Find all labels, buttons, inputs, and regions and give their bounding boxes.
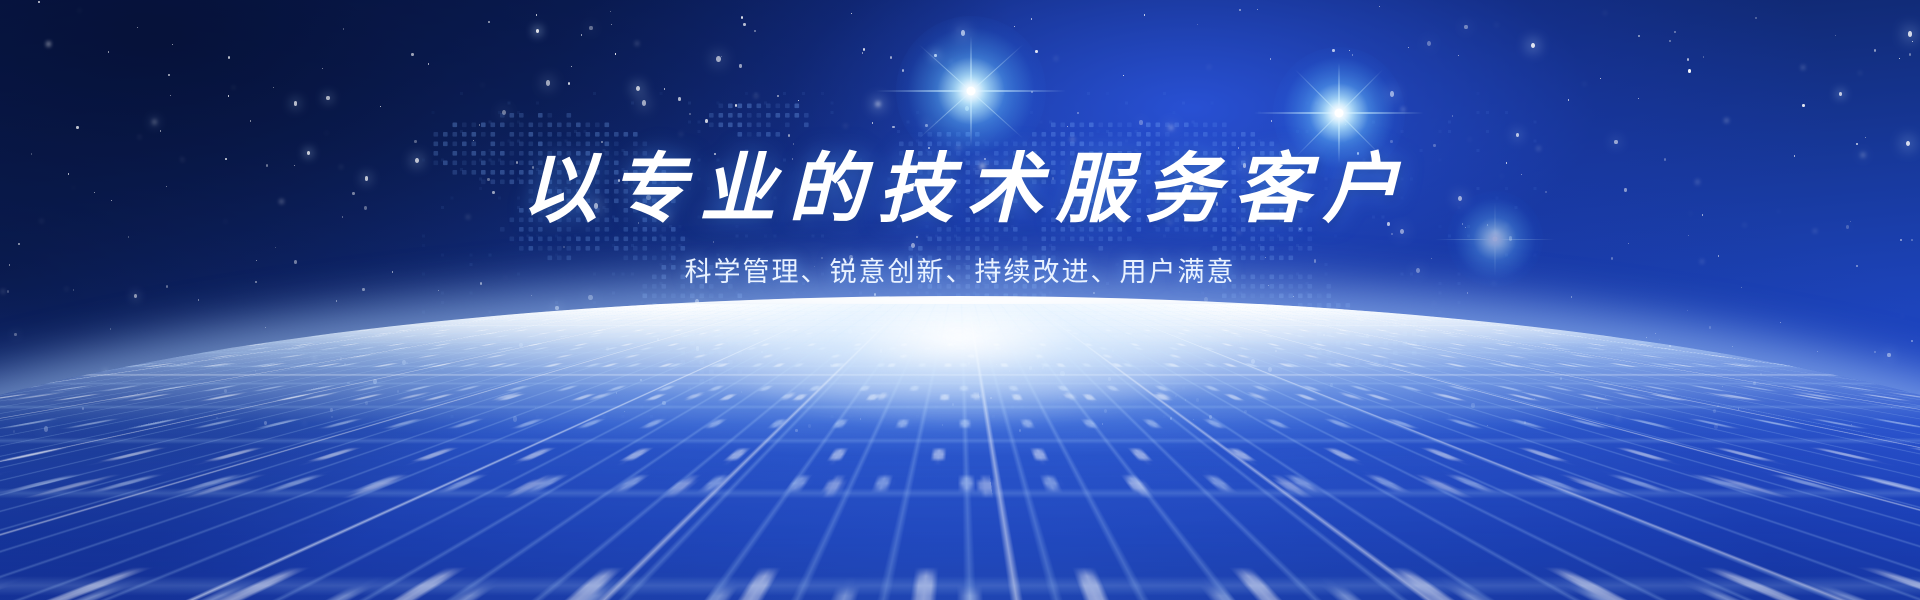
star-dot bbox=[793, 143, 794, 144]
star-dot bbox=[487, 178, 489, 181]
star-dot bbox=[851, 13, 852, 14]
star-dot bbox=[340, 166, 342, 168]
star-dot bbox=[646, 195, 651, 201]
star-dot bbox=[849, 255, 853, 260]
star-dot bbox=[1270, 58, 1271, 60]
star-dot bbox=[536, 29, 539, 33]
star-dot bbox=[1600, 78, 1601, 80]
star-dot bbox=[1674, 31, 1676, 34]
star-dot bbox=[532, 166, 535, 169]
star-dot bbox=[843, 187, 844, 188]
star-dot bbox=[721, 56, 722, 57]
star-dot bbox=[428, 63, 429, 64]
star-dot bbox=[1014, 26, 1015, 27]
star-dot bbox=[294, 260, 297, 264]
star-dot bbox=[1846, 225, 1849, 229]
star-dot bbox=[1899, 58, 1900, 60]
star-dot bbox=[294, 101, 298, 106]
star-dot bbox=[66, 288, 67, 290]
star-dot bbox=[1718, 255, 1720, 257]
star-dot bbox=[814, 266, 815, 267]
star-dot bbox=[516, 161, 518, 164]
star-dot bbox=[1487, 224, 1488, 225]
star-dot bbox=[1531, 43, 1535, 48]
star-dot bbox=[546, 80, 550, 85]
star-dot bbox=[181, 157, 182, 158]
star-dot bbox=[255, 281, 257, 283]
star-dot bbox=[1584, 83, 1586, 85]
star-dot bbox=[1169, 125, 1173, 130]
star-dot bbox=[233, 87, 234, 88]
hero-banner: 以专业的技术服务客户 科学管理、锐意创新、持续改进、用户满意 bbox=[0, 0, 1920, 600]
star-dot bbox=[911, 243, 915, 248]
star-dot bbox=[1179, 271, 1181, 273]
star-dot bbox=[1239, 9, 1241, 11]
star-dot bbox=[342, 216, 343, 217]
star-dot bbox=[1911, 239, 1913, 241]
star-dot bbox=[678, 97, 681, 101]
banner-copy: 以专业的技术服务客户 科学管理、锐意创新、持续改进、用户满意 bbox=[0, 150, 1920, 289]
star-dot bbox=[1741, 287, 1742, 288]
star-dot bbox=[1349, 50, 1350, 51]
star-dot bbox=[934, 54, 937, 58]
star-dot bbox=[821, 257, 823, 259]
star-dot bbox=[250, 120, 251, 122]
lens-flare-star bbox=[1338, 112, 1340, 114]
star-dot bbox=[166, 285, 169, 289]
star-dot bbox=[636, 86, 640, 91]
star-dot bbox=[1390, 91, 1394, 96]
star-dot bbox=[172, 44, 173, 45]
star-dot bbox=[160, 130, 162, 132]
star-dot bbox=[108, 51, 110, 53]
lens-flare-star bbox=[1494, 238, 1496, 240]
star-dot bbox=[467, 216, 469, 219]
star-dot bbox=[589, 26, 593, 31]
star-dot bbox=[1387, 222, 1390, 226]
star-dot bbox=[892, 126, 894, 129]
star-dot bbox=[1067, 126, 1068, 128]
star-dot bbox=[414, 140, 417, 143]
star-dot bbox=[1265, 257, 1266, 259]
star-dot bbox=[1343, 182, 1344, 184]
star-dot bbox=[322, 68, 324, 70]
star-dot bbox=[502, 110, 506, 115]
star-dot bbox=[307, 151, 310, 155]
star-dot bbox=[1464, 25, 1468, 30]
star-dot bbox=[365, 176, 369, 181]
star-dot bbox=[1452, 115, 1453, 117]
star-dot bbox=[739, 64, 742, 67]
star-dot bbox=[611, 24, 612, 25]
star-dot bbox=[862, 52, 863, 53]
star-dot bbox=[1839, 92, 1842, 96]
star-dot bbox=[890, 56, 893, 60]
star-dot bbox=[1238, 231, 1240, 234]
star-dot bbox=[1458, 196, 1462, 201]
star-dot bbox=[9, 264, 10, 266]
star-dot bbox=[111, 200, 112, 201]
star-dot bbox=[1462, 223, 1463, 224]
star-dot bbox=[1257, 9, 1258, 10]
star-dot bbox=[1900, 239, 1902, 241]
star-dot bbox=[415, 158, 419, 163]
star-dot bbox=[1379, 6, 1380, 7]
star-dot bbox=[1271, 120, 1272, 122]
star-dot bbox=[1031, 91, 1033, 93]
star-dot bbox=[514, 240, 515, 242]
star-dot bbox=[777, 95, 779, 97]
star-dot bbox=[1077, 112, 1079, 114]
star-dot bbox=[1144, 14, 1146, 16]
star-dot bbox=[1755, 17, 1756, 18]
star-dot bbox=[18, 243, 20, 245]
star-dot bbox=[1199, 186, 1203, 191]
star-dot bbox=[1688, 235, 1689, 237]
star-dot bbox=[1521, 174, 1522, 175]
star-dot bbox=[153, 120, 156, 124]
star-dot bbox=[680, 133, 682, 135]
star-dot bbox=[1909, 53, 1911, 56]
star-dot bbox=[47, 42, 50, 46]
star-dot bbox=[225, 221, 226, 223]
star-dot bbox=[1493, 230, 1497, 236]
star-dot bbox=[1856, 265, 1858, 268]
star-dot bbox=[1744, 224, 1746, 226]
star-dot bbox=[1345, 124, 1346, 125]
star-dot bbox=[1802, 104, 1805, 107]
star-dot bbox=[788, 134, 790, 137]
star-dot bbox=[1243, 163, 1247, 168]
star-dot bbox=[1469, 139, 1470, 140]
star-dot bbox=[1516, 133, 1520, 138]
star-dot bbox=[716, 56, 721, 62]
star-dot bbox=[1408, 47, 1409, 48]
star-dot bbox=[411, 53, 414, 56]
star-dot bbox=[636, 42, 638, 45]
star-dot bbox=[1332, 49, 1335, 52]
star-dot bbox=[536, 14, 537, 16]
star-dot bbox=[1314, 259, 1317, 262]
star-dot bbox=[906, 190, 910, 194]
star-dot bbox=[1071, 138, 1074, 141]
star-dot bbox=[1427, 41, 1431, 46]
star-dot bbox=[1035, 50, 1038, 53]
star-dot bbox=[1850, 221, 1851, 223]
star-dot bbox=[168, 74, 170, 76]
star-dot bbox=[225, 158, 227, 160]
star-dot bbox=[961, 30, 965, 35]
glowing-earth-horizon bbox=[0, 296, 1920, 600]
star-dot bbox=[182, 159, 184, 161]
star-dot bbox=[1688, 69, 1691, 73]
star-dot bbox=[1299, 228, 1301, 231]
star-dot bbox=[863, 48, 865, 51]
star-dot bbox=[1002, 198, 1006, 203]
star-dot bbox=[1212, 274, 1213, 276]
star-dot bbox=[1493, 282, 1495, 284]
star-dot bbox=[615, 53, 616, 55]
star-dot bbox=[958, 29, 959, 31]
star-dot bbox=[1052, 177, 1054, 179]
star-dot bbox=[326, 132, 328, 134]
star-dot bbox=[1664, 158, 1667, 161]
star-dot bbox=[1506, 224, 1508, 226]
star-dot bbox=[618, 179, 620, 182]
star-dot bbox=[1638, 35, 1640, 38]
banner-headline: 以专业的技术服务客户 bbox=[0, 150, 1920, 228]
star-dot bbox=[38, 1, 40, 3]
star-dot bbox=[1861, 153, 1864, 157]
star-dot bbox=[280, 200, 282, 203]
star-dot bbox=[1416, 268, 1420, 273]
star-dot bbox=[754, 30, 756, 33]
star-dot bbox=[798, 100, 799, 102]
star-dot bbox=[872, 122, 873, 124]
star-dot bbox=[916, 236, 918, 238]
star-dot bbox=[479, 124, 480, 125]
star-dot bbox=[94, 192, 95, 193]
star-dot bbox=[1614, 140, 1618, 145]
star-dot bbox=[1859, 72, 1861, 74]
star-dot bbox=[1778, 211, 1779, 212]
star-dot bbox=[1628, 243, 1629, 244]
star-dot bbox=[845, 125, 846, 126]
star-dot bbox=[473, 140, 474, 141]
star-dot bbox=[76, 126, 79, 129]
star-dot bbox=[992, 273, 996, 277]
star-dot bbox=[1874, 49, 1877, 52]
star-dot bbox=[1506, 162, 1507, 163]
star-dot bbox=[1357, 152, 1359, 155]
star-dot bbox=[1701, 260, 1703, 263]
star-dot bbox=[1238, 147, 1239, 149]
star-dot bbox=[903, 267, 905, 269]
star-dot bbox=[743, 23, 746, 26]
star-dot bbox=[1093, 292, 1095, 294]
star-dot bbox=[1212, 267, 1215, 271]
star-dot bbox=[73, 187, 74, 189]
star-dot bbox=[1055, 57, 1057, 60]
star-dot bbox=[1802, 66, 1805, 69]
star-dot bbox=[1703, 56, 1704, 58]
star-dot bbox=[343, 28, 344, 30]
star-dot bbox=[689, 113, 691, 115]
star-dot bbox=[1604, 12, 1606, 14]
star-dot bbox=[1865, 137, 1866, 138]
star-dot bbox=[876, 102, 880, 107]
star-dot bbox=[943, 292, 944, 294]
star-dot bbox=[957, 145, 961, 149]
star-dot bbox=[998, 172, 1000, 174]
star-dot bbox=[568, 82, 570, 85]
star-dot bbox=[1912, 41, 1913, 42]
star-dot bbox=[735, 104, 737, 107]
star-dot bbox=[1139, 120, 1143, 125]
star-dot bbox=[1208, 66, 1210, 68]
star-dot bbox=[1195, 217, 1196, 218]
star-dot bbox=[1856, 143, 1858, 145]
star-dot bbox=[563, 246, 565, 249]
star-dot bbox=[7, 290, 9, 293]
star-dot bbox=[1164, 262, 1165, 264]
star-dot bbox=[965, 106, 970, 112]
star-dot bbox=[1268, 285, 1269, 286]
star-dot bbox=[1702, 214, 1703, 215]
star-dot bbox=[1545, 191, 1547, 193]
star-dot bbox=[955, 189, 956, 191]
star-dot bbox=[228, 95, 229, 96]
star-dot bbox=[392, 271, 393, 273]
star-dot bbox=[1391, 233, 1393, 235]
star-dot bbox=[1123, 75, 1124, 76]
star-dot bbox=[1690, 213, 1691, 214]
star-dot bbox=[352, 192, 355, 195]
star-dot bbox=[1079, 193, 1081, 196]
star-dot bbox=[1390, 140, 1393, 144]
star-dot bbox=[1400, 229, 1405, 235]
perspective-city-grid bbox=[0, 304, 1920, 600]
star-dot bbox=[1624, 188, 1627, 191]
star-dot bbox=[275, 247, 276, 249]
star-dot bbox=[1467, 292, 1469, 294]
star-dot bbox=[741, 16, 743, 19]
star-dot bbox=[705, 119, 708, 123]
star-dot bbox=[438, 290, 439, 291]
star-dot bbox=[1197, 24, 1198, 25]
star-dot bbox=[170, 95, 171, 96]
star-dot bbox=[1017, 93, 1018, 95]
star-dot bbox=[480, 282, 483, 286]
star-dot bbox=[1169, 221, 1172, 224]
star-dot bbox=[1611, 257, 1614, 260]
star-dot bbox=[601, 141, 603, 144]
star-dot bbox=[1725, 119, 1728, 123]
star-dot bbox=[273, 87, 274, 88]
horizon-bloom bbox=[680, 304, 1240, 428]
star-dot bbox=[638, 222, 639, 223]
star-dot bbox=[732, 114, 733, 115]
star-dot bbox=[1696, 180, 1699, 184]
star-dot bbox=[594, 203, 599, 209]
star-dot bbox=[505, 277, 506, 278]
star-dot bbox=[1568, 99, 1570, 101]
star-dot bbox=[68, 173, 69, 174]
star-dot bbox=[1835, 35, 1836, 36]
star-dot bbox=[266, 164, 268, 167]
star-dot bbox=[1638, 98, 1639, 99]
star-dot bbox=[294, 165, 295, 166]
star-dot bbox=[1496, 24, 1497, 26]
star-dot bbox=[362, 288, 365, 291]
star-dot bbox=[380, 106, 381, 107]
star-dot bbox=[73, 289, 75, 291]
star-dot bbox=[1537, 147, 1540, 151]
star-dot bbox=[1097, 281, 1098, 282]
star-dot bbox=[925, 124, 928, 128]
star-dot bbox=[1906, 141, 1911, 147]
star-dot bbox=[166, 186, 167, 187]
star-dot bbox=[31, 153, 33, 155]
star-dot bbox=[986, 263, 987, 264]
star-dot bbox=[1433, 144, 1436, 148]
star-dot bbox=[928, 147, 930, 149]
star-dot bbox=[326, 96, 329, 100]
star-dot bbox=[1669, 40, 1671, 43]
star-dot bbox=[1908, 31, 1913, 37]
star-dot bbox=[714, 153, 715, 155]
star-dot bbox=[581, 34, 582, 35]
star-dot bbox=[1794, 155, 1795, 156]
star-dot bbox=[2, 290, 4, 293]
star-dot bbox=[755, 95, 757, 97]
star-dot bbox=[792, 158, 793, 160]
star-dot bbox=[1509, 236, 1513, 240]
star-dot bbox=[492, 191, 495, 195]
star-dot bbox=[984, 158, 986, 160]
star-dot bbox=[664, 214, 667, 218]
star-dot bbox=[137, 27, 138, 28]
star-dot bbox=[980, 163, 984, 169]
star-dot bbox=[1352, 54, 1353, 56]
star-dot bbox=[571, 66, 572, 67]
star-dot bbox=[1106, 170, 1110, 174]
star-dot bbox=[1465, 227, 1466, 228]
star-dot bbox=[1431, 258, 1432, 260]
star-dot bbox=[256, 260, 257, 261]
star-dot bbox=[79, 10, 80, 11]
star-dot bbox=[1814, 230, 1815, 232]
star-dot bbox=[902, 69, 904, 72]
star-dot bbox=[642, 100, 646, 105]
star-dot bbox=[1216, 202, 1219, 206]
star-dot bbox=[951, 61, 952, 62]
lens-flare-star bbox=[970, 90, 972, 92]
star-dot bbox=[364, 206, 367, 210]
star-dot bbox=[41, 220, 42, 222]
star-dot bbox=[128, 236, 130, 238]
star-dot bbox=[664, 88, 665, 89]
banner-subline: 科学管理、锐意创新、持续改进、用户满意 bbox=[0, 250, 1920, 289]
star-dot bbox=[1687, 58, 1689, 61]
star-dot bbox=[1031, 18, 1033, 20]
star-dot bbox=[1501, 175, 1502, 176]
star-dot bbox=[713, 241, 714, 242]
star-dot bbox=[1402, 108, 1405, 111]
star-dot bbox=[139, 136, 140, 138]
star-dot bbox=[610, 11, 611, 12]
star-dot bbox=[482, 84, 483, 86]
star-dot bbox=[1458, 55, 1459, 56]
star-dot bbox=[488, 21, 489, 23]
star-dot bbox=[228, 56, 230, 59]
